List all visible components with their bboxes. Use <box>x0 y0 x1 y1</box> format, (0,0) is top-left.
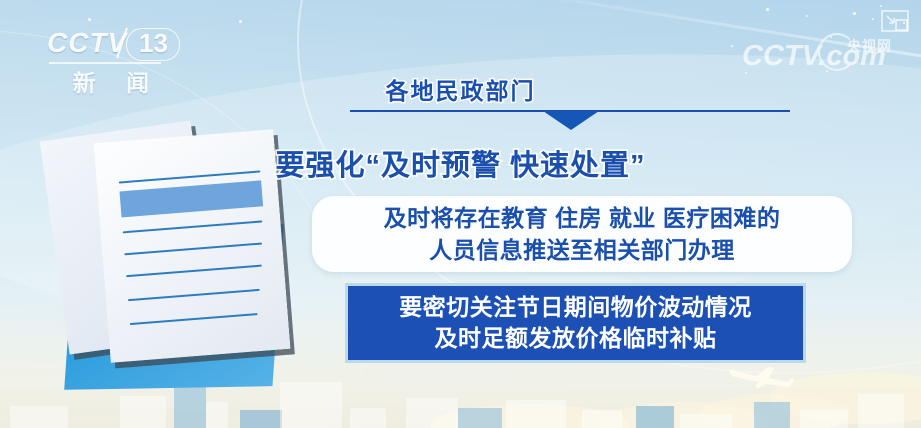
main-headline: 要强化“及时预警 快速处置” <box>0 142 921 184</box>
cloud-shape <box>600 402 770 428</box>
callout-white-line-1: 及时将存在教育 住房 就业 医疗困难的 <box>384 202 781 234</box>
watermark-cctv-text: CCTV <box>742 40 818 72</box>
channel-number: 13 <box>139 28 168 59</box>
chevron-down-icon <box>543 111 599 130</box>
section-title: 各地民政部门 <box>0 72 921 106</box>
document-text-line <box>126 265 262 278</box>
sparkle-dot <box>239 20 242 23</box>
cloud-shape <box>700 394 850 428</box>
callout-blue-line-2: 及时足额发放价格临时补贴 <box>435 323 717 354</box>
cctv-com-watermark: 央视网 CCTV.com <box>742 36 917 76</box>
cloud-shape <box>430 404 630 428</box>
watermark-domain-text: .com <box>818 40 886 72</box>
broadcast-screen: CCTV 13 新 闻 央视网 CCTV.com 各地民政部门 <box>0 0 921 428</box>
callout-white-box: 及时将存在教育 住房 就业 医疗困难的 人员信息推送至相关部门办理 <box>312 196 852 272</box>
document-text-line <box>128 289 260 301</box>
sparkle-dot <box>766 8 769 11</box>
document-text-line <box>124 243 262 256</box>
picture-in-picture-icon[interactable] <box>881 10 909 32</box>
sparkle-dot <box>853 12 856 15</box>
airplane-silhouette <box>726 363 796 389</box>
callout-blue-line-1: 要密切关注节日期间物价波动情况 <box>399 292 752 323</box>
cctv-wordmark: CCTV <box>47 26 127 60</box>
document-text-line <box>130 313 258 325</box>
sparkle-dot <box>731 45 733 47</box>
watermark-main-label: CCTV.com <box>742 40 886 72</box>
document-highlight-bar <box>120 180 264 217</box>
sparkle-dot <box>88 18 91 21</box>
cloud-shape <box>770 372 921 424</box>
callout-blue-box: 要密切关注节日期间物价波动情况 及时足额发放价格临时补贴 <box>345 283 806 363</box>
sparkle-dot <box>880 5 882 7</box>
callout-white-line-2: 人员信息推送至相关部门办理 <box>429 234 735 266</box>
sparkle-dot <box>872 18 874 20</box>
sparkle-dot <box>806 15 808 17</box>
document-text-line <box>123 220 263 233</box>
